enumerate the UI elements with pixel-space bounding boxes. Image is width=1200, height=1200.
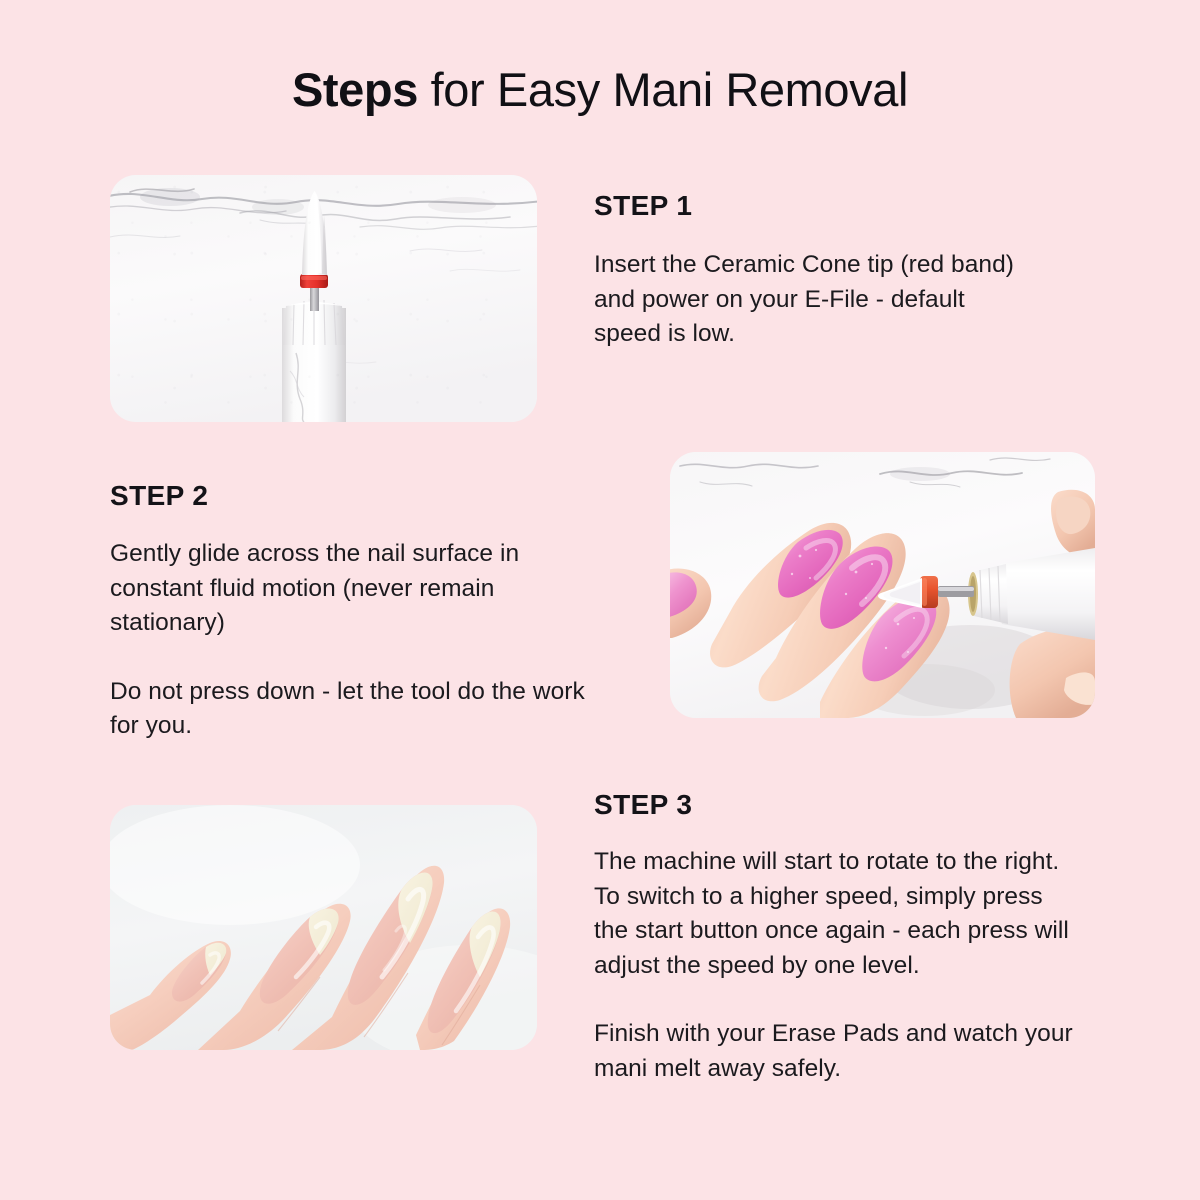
step-2-body: Gently glide across the nail surface in … — [110, 537, 595, 744]
step-1-paragraph: Insert the Ceramic Cone tip (red band) a… — [594, 248, 1024, 352]
step-3-paragraph: The machine will start to rotate to the … — [594, 845, 1074, 983]
page-title: Steps for Easy Mani Removal — [0, 62, 1200, 117]
page-title-rest: for Easy Mani Removal — [418, 63, 908, 116]
step-3-photo — [110, 805, 537, 1050]
step-2-paragraph: Do not press down - let the tool do the … — [110, 675, 595, 744]
step-2-photo — [670, 452, 1095, 718]
step-3-paragraph: Finish with your Erase Pads and watch yo… — [594, 1017, 1074, 1086]
instruction-card: Steps for Easy Mani Removal — [0, 0, 1200, 1200]
step-2-paragraph: Gently glide across the nail surface in … — [110, 537, 595, 641]
step-1-photo — [110, 175, 537, 422]
step-1-body: Insert the Ceramic Cone tip (red band) a… — [594, 248, 1024, 352]
step-3-heading: STEP 3 — [594, 789, 692, 821]
page-title-bold: Steps — [292, 63, 418, 116]
step-2-heading: STEP 2 — [110, 480, 208, 512]
step-3-body: The machine will start to rotate to the … — [594, 845, 1074, 1086]
step-1-heading: STEP 1 — [594, 190, 692, 222]
